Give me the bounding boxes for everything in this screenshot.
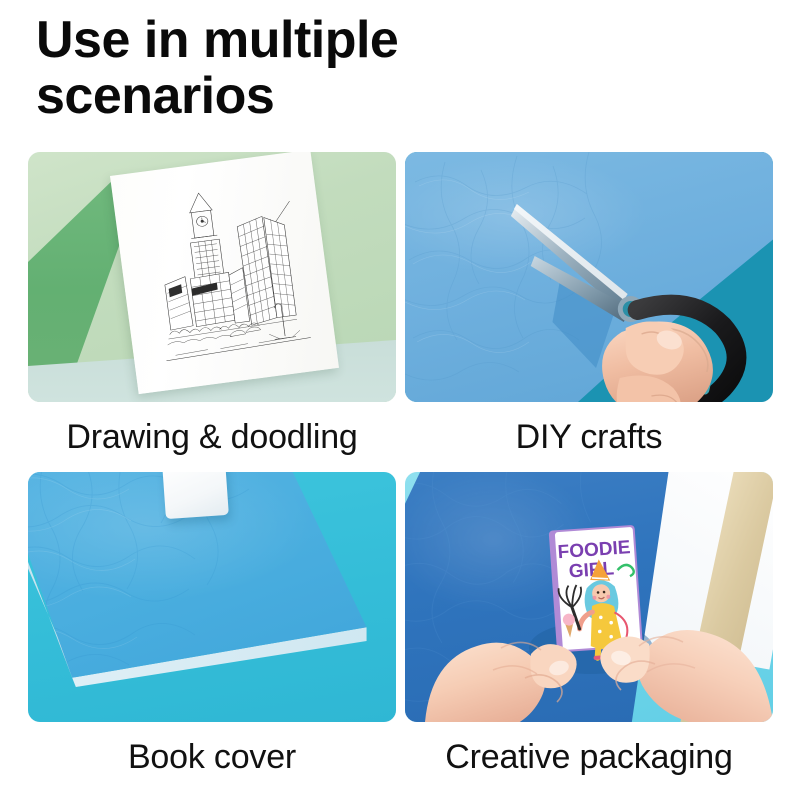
hands-holding-booklet: FOODIE GIRL xyxy=(405,472,773,722)
scenario-tile-drawing-doodling[interactable] xyxy=(28,152,396,402)
caption-diy-crafts: DIY crafts xyxy=(405,402,773,472)
sketch-card xyxy=(110,152,339,394)
scenario-tile-book-cover[interactable] xyxy=(28,472,396,722)
scenario-grid: Drawing & doodling DIY crafts xyxy=(28,152,773,772)
infographic-page: Use in multiple scenarios xyxy=(0,0,800,800)
white-eraser-block xyxy=(162,472,228,519)
city-sketch-illustration xyxy=(136,171,321,375)
caption-creative-packaging: Creative packaging xyxy=(405,722,773,792)
caption-drawing-doodling: Drawing & doodling xyxy=(28,402,396,472)
scenario-tile-creative-packaging[interactable]: FOODIE GIRL xyxy=(405,472,773,722)
scenario-tile-diy-crafts[interactable] xyxy=(405,152,773,402)
page-title: Use in multiple scenarios xyxy=(36,12,656,124)
caption-book-cover: Book cover xyxy=(28,722,396,792)
scissors-and-hand-illustration xyxy=(501,182,773,402)
